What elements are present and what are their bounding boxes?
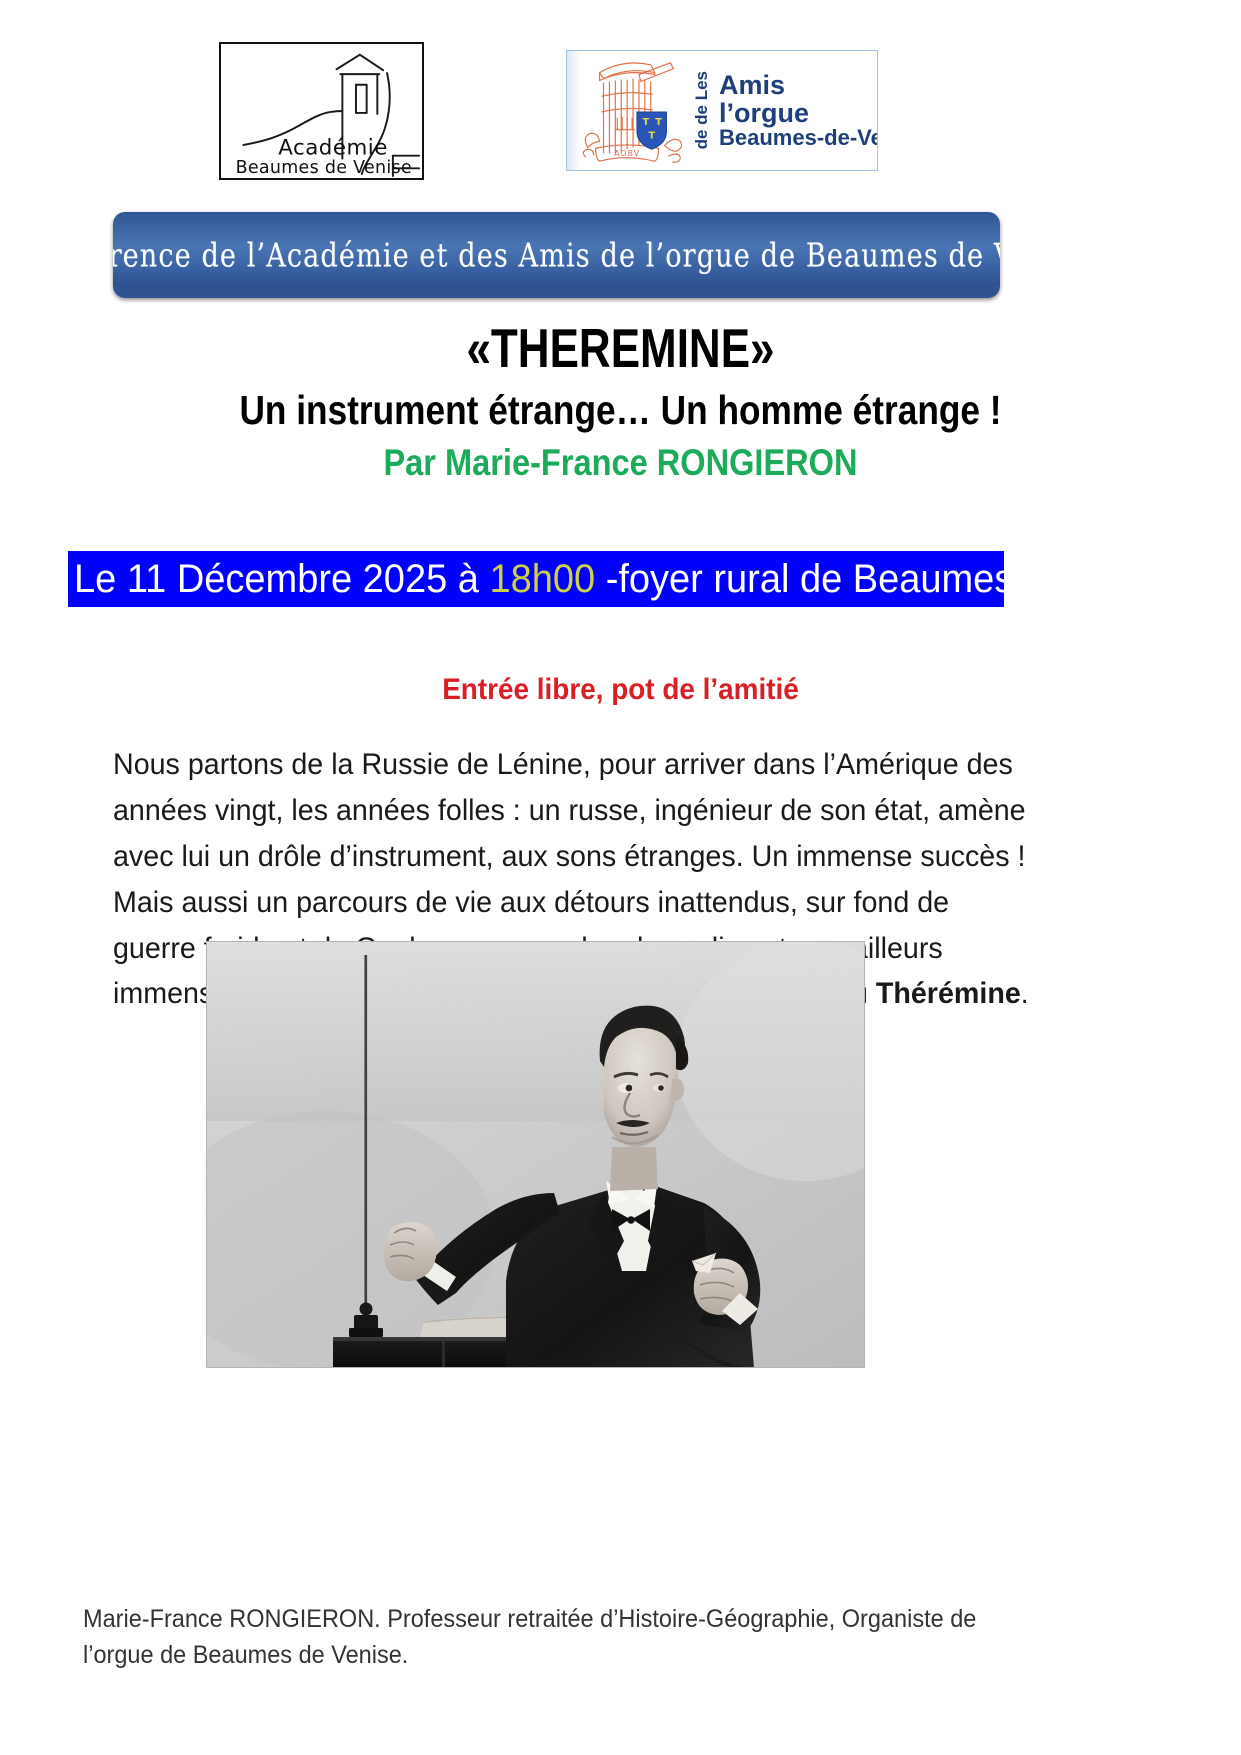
emblem-label: AOBV bbox=[614, 149, 640, 158]
title-block: «THEREMINE» Un instrument étrange… Un ho… bbox=[0, 305, 1241, 485]
amis-line-2: l’orgue bbox=[719, 99, 878, 127]
date-prefix: Le 11 Décembre 2025 à bbox=[74, 557, 489, 601]
date-bar: Le 11 Décembre 2025 à 18h00 -foyer rural… bbox=[68, 551, 1004, 607]
presenter-name: Par Marie-France RONGIERON bbox=[74, 441, 1166, 485]
event-venue: -foyer rural de Beaumes bbox=[595, 557, 1004, 601]
svg-text:T: T bbox=[648, 131, 655, 142]
academie-logo-line2: Beaumes de Venise bbox=[236, 158, 412, 178]
amis-logo-text: de de Les Amis l’orgue Beaumes-de-Venise bbox=[689, 51, 878, 170]
conference-banner: Conférence de l’Académie et des Amis de … bbox=[113, 212, 1000, 298]
speaker-bio-line-2: Beaumes de Venise. bbox=[193, 1641, 409, 1669]
amis-line-3: Beaumes-de-Venise bbox=[719, 127, 878, 150]
amis-de-lorgue-logo: AOBV T T T de de Les Amis l’orgue Beaume… bbox=[566, 50, 878, 171]
banner-title: Conférence de l’Académie et des Amis de … bbox=[113, 236, 1000, 274]
amis-prefix-column: de de Les bbox=[691, 71, 713, 149]
logos-row: Académie Beaumes de Venise bbox=[0, 0, 1241, 200]
event-time: 18h00 bbox=[489, 557, 595, 601]
amis-line-1: Amis bbox=[719, 71, 878, 99]
date-text: Le 11 Décembre 2025 à 18h00 -foyer rural… bbox=[74, 557, 1004, 602]
svg-text:T: T bbox=[655, 117, 662, 128]
svg-text:T: T bbox=[642, 117, 649, 128]
amis-main-column: Amis l’orgue Beaumes-de-Venise bbox=[713, 71, 878, 150]
page-title: «THEREMINE» bbox=[124, 305, 1117, 380]
description-highlight: Thérémine bbox=[876, 977, 1021, 1010]
amis-prefix-stack: de de Les bbox=[690, 71, 715, 149]
academie-logo-line1: Académie bbox=[278, 136, 388, 161]
theremin-performer-photo bbox=[206, 941, 865, 1368]
organ-emblem-icon: AOBV T T T bbox=[581, 51, 689, 170]
description-part-2: . bbox=[1021, 977, 1029, 1010]
academie-logo: Académie Beaumes de Venise bbox=[219, 42, 424, 180]
free-entry-note: Entrée libre, pot de l’amitié bbox=[43, 673, 1197, 707]
speaker-bio-caption: Marie-France RONGIERON. Professeur retra… bbox=[83, 1601, 985, 1674]
page-subtitle: Un instrument étrange… Un homme étrange … bbox=[87, 386, 1154, 434]
